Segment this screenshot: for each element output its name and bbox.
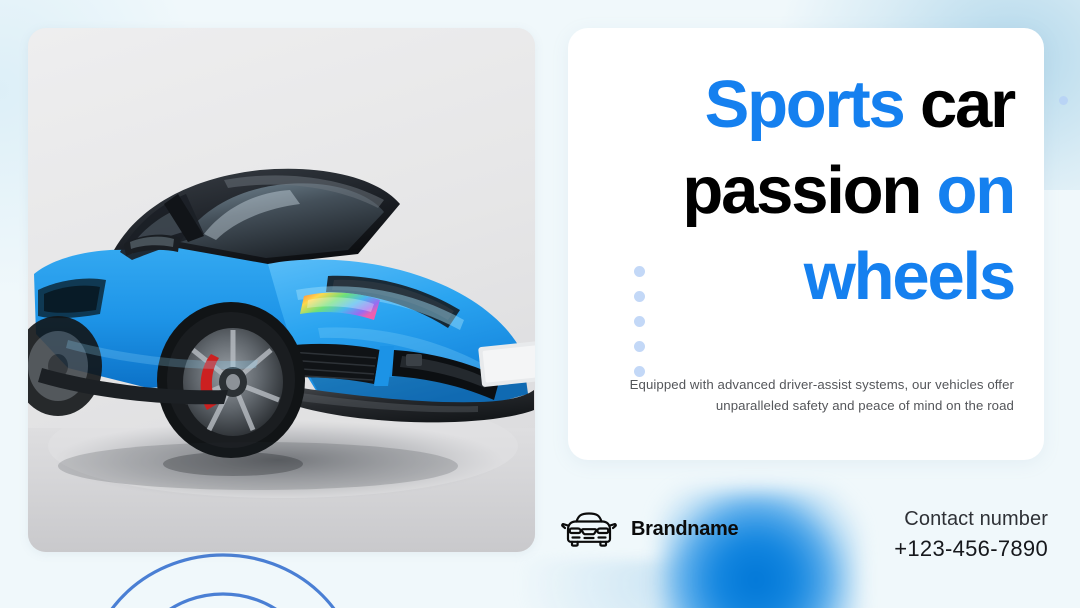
sports-car-photo	[28, 28, 535, 552]
headline: Sports car passion on wheels	[594, 62, 1014, 320]
brand-name: Brandname	[631, 518, 738, 541]
headline-line-3: wheels	[594, 234, 1014, 320]
decorative-dot	[634, 316, 645, 327]
headline-line-1: Sports car	[594, 62, 1014, 148]
contact-label: Contact number	[894, 505, 1048, 534]
contact-number[interactable]: +123-456-7890	[894, 534, 1048, 564]
car-front-icon	[560, 508, 618, 550]
accent-dot-right	[1059, 96, 1068, 105]
headline-word-wheels: wheels	[804, 239, 1014, 314]
decorative-dot	[634, 266, 645, 277]
headline-word-car: car	[904, 67, 1014, 142]
contact-block[interactable]: Contact number +123-456-7890	[894, 505, 1048, 564]
decorative-dot-column	[634, 266, 645, 377]
decorative-dot	[634, 291, 645, 302]
brand-lockup[interactable]: Brandname	[560, 508, 738, 550]
hero-photo-card	[28, 28, 535, 552]
headline-line-2: passion on	[594, 148, 1014, 234]
decorative-dot	[634, 366, 645, 377]
poster-canvas: Sports car passion on wheels Equipped wi…	[0, 0, 1080, 608]
content-card: Sports car passion on wheels Equipped wi…	[568, 28, 1044, 460]
decorative-dot	[634, 341, 645, 352]
headline-word-sports: Sports	[705, 67, 904, 142]
headline-word-on: on	[937, 153, 1014, 228]
body-paragraph: Equipped with advanced driver-assist sys…	[628, 374, 1014, 416]
headline-word-passion: passion	[682, 153, 936, 228]
background-blob-bottom	[520, 560, 820, 608]
